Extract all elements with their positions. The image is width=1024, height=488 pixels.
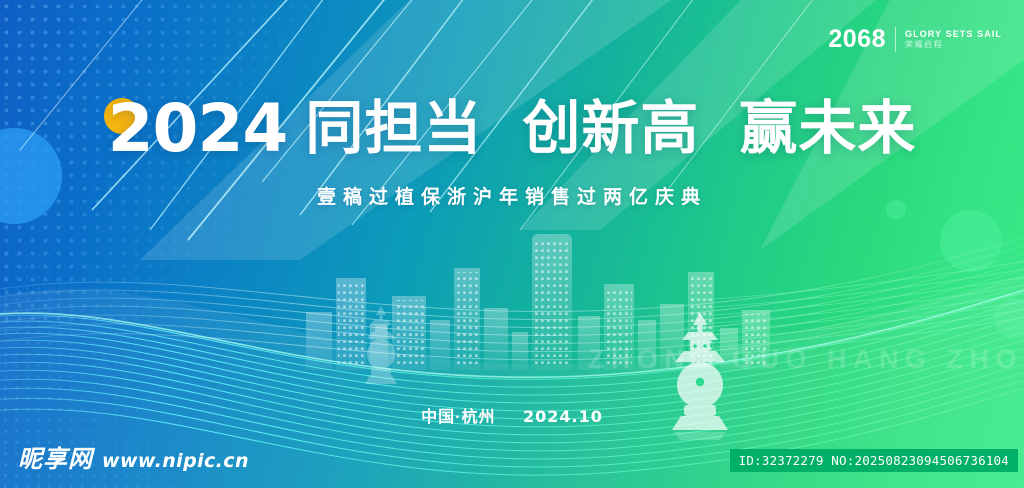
city-skyline-silhouette xyxy=(300,220,780,370)
headline: 2024 同担当 创新高 赢未来 xyxy=(108,96,917,162)
brand-divider xyxy=(895,27,896,52)
brand-tagline-en: GLORY SETS SAIL xyxy=(905,30,1002,39)
subtitle: 壹稿过植保浙沪年销售过两亿庆典 xyxy=(0,182,1024,209)
event-place: 中国·杭州 xyxy=(421,409,495,426)
headline-block: 2024 同担当 创新高 赢未来 xyxy=(0,96,1024,162)
promo-banner: ZHONG GUO HANG ZHOU xyxy=(0,0,1024,488)
watermark-site-name-cn: 昵享网 xyxy=(18,439,93,474)
hangzhou-lantern-icon-small xyxy=(358,306,404,392)
headline-year: 2024 xyxy=(108,96,288,162)
brand-number: 2068 xyxy=(828,27,886,52)
stock-id-badge: ID:32372279 NO:20250823094506736104 xyxy=(730,449,1018,472)
brand-tagline-cn: 荣耀启程 xyxy=(905,41,1002,49)
headline-phrase-2: 创新高 xyxy=(522,100,699,158)
green-circle-accent-large xyxy=(940,210,1002,272)
green-circle-accent-edge xyxy=(994,298,1024,338)
brand-tagline-group: GLORY SETS SAIL 荣耀启程 xyxy=(905,30,1002,49)
headline-phrase-3: 赢未来 xyxy=(739,100,916,158)
place-date-line: 中国·杭州 2024.10 xyxy=(0,403,1024,427)
event-date: 2024.10 xyxy=(523,407,603,426)
pinyin-ghost-text: ZHONG GUO HANG ZHOU xyxy=(588,344,1024,375)
brand-lockup: 2068 GLORY SETS SAIL 荣耀启程 xyxy=(828,27,1002,52)
headline-phrase-1: 同担当 xyxy=(305,100,482,158)
stock-watermark: 昵享网 www.nipic.cn xyxy=(18,439,249,474)
watermark-site-url: www.nipic.cn xyxy=(102,450,249,472)
